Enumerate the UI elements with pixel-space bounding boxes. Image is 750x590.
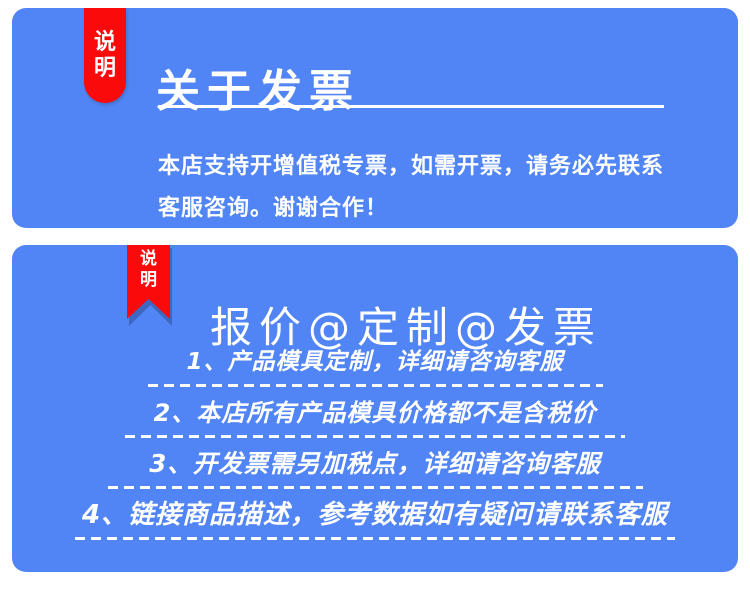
rule-item-text: 3、开发票需另加税点，详细请咨询客服 xyxy=(149,445,601,483)
rule-item-divider xyxy=(108,486,643,489)
rule-item-text: 4、链接商品描述，参考数据如有疑问请联系客服 xyxy=(82,496,668,534)
rule-item-divider xyxy=(148,384,603,387)
rule-item-text: 2、本店所有产品模具价格都不是含税价 xyxy=(154,394,597,432)
invoice-panel-body-text: 本店支持开增值税专票，如需开票，请务必先联系客服咨询。谢谢合作！ xyxy=(158,146,678,230)
rule-item: 4、链接商品描述，参考数据如有疑问请联系客服 xyxy=(75,496,675,546)
badge-char-line1: 说 xyxy=(94,31,116,54)
quote-rules-panel: 说 明 报价@定制@发票 1、产品模具定制，详细请咨询客服 2、本店所有产品模具… xyxy=(12,245,738,572)
badge-char-line2: 明 xyxy=(94,57,116,80)
badge-char-line1: 说 xyxy=(140,250,157,270)
rule-item-divider xyxy=(75,537,675,540)
title-underline-rule xyxy=(158,105,664,108)
instruction-badge-rounded: 说 明 xyxy=(84,8,126,103)
instruction-badge-ribbon: 说 明 xyxy=(127,245,170,319)
rule-item: 1、产品模具定制，详细请咨询客服 xyxy=(148,343,603,393)
rule-item-divider xyxy=(125,435,625,438)
rule-item: 3、开发票需另加税点，详细请咨询客服 xyxy=(108,445,643,495)
invoice-info-panel: 说 明 关于发票 本店支持开增值税专票，如需开票，请务必先联系客服咨询。谢谢合作… xyxy=(12,8,738,228)
badge-char-line2: 明 xyxy=(140,271,157,291)
rule-item: 2、本店所有产品模具价格都不是含税价 xyxy=(125,394,625,444)
rules-list: 1、产品模具定制，详细请咨询客服 2、本店所有产品模具价格都不是含税价 3、开发… xyxy=(12,343,738,547)
rule-item-text: 1、产品模具定制，详细请咨询客服 xyxy=(186,343,563,381)
promo-banner: 说 明 关于发票 本店支持开增值税专票，如需开票，请务必先联系客服咨询。谢谢合作… xyxy=(0,0,750,590)
